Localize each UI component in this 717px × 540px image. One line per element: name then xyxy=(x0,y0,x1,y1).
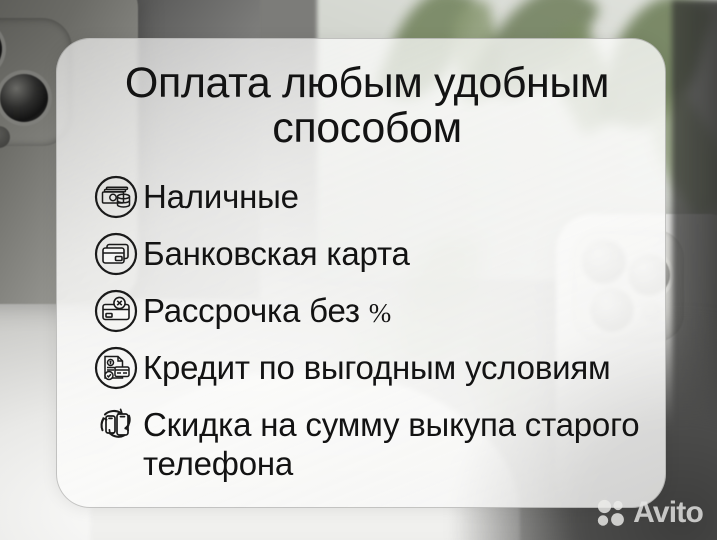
list-item: Наличные xyxy=(91,172,647,222)
camera-flash-icon xyxy=(0,126,10,148)
list-item-label: Банковская карта xyxy=(143,229,410,274)
list-item-label: Наличные xyxy=(143,172,299,217)
phone-trade-in-icon xyxy=(91,400,141,450)
avito-watermark: Avito xyxy=(596,498,703,528)
bank-card-icon xyxy=(91,229,141,279)
title-line-1: Оплата любым удобным xyxy=(125,59,609,107)
cash-banknotes-icon xyxy=(91,172,141,222)
avito-logo-icon xyxy=(596,498,626,528)
avito-wordmark: Avito xyxy=(633,498,703,528)
list-item-label: Рассрочка без % xyxy=(143,286,391,331)
installment-card-icon xyxy=(91,286,141,336)
list-item: Кредит по выгодным условиям xyxy=(91,343,647,393)
list-item: Рассрочка без % xyxy=(91,286,647,336)
credit-document-icon xyxy=(91,343,141,393)
list-item: Банковская карта xyxy=(91,229,647,279)
list-item-label: Скидка на сумму выкупа старого телефона xyxy=(143,400,647,483)
payment-methods-list: Наличные Б xyxy=(87,172,647,483)
list-item-label: Кредит по выгодным условиям xyxy=(143,343,611,388)
camera-lens-icon xyxy=(0,24,2,74)
percent-symbol: % xyxy=(369,298,391,328)
list-item-label-text: Рассрочка без xyxy=(143,292,369,329)
page-title: Оплата любым удобным способом xyxy=(87,61,647,150)
camera-lens-icon xyxy=(0,74,48,122)
title-line-2: способом xyxy=(272,104,462,152)
advertisement-image: Оплата любым удобным способом xyxy=(0,0,717,540)
list-item: Скидка на сумму выкупа старого телефона xyxy=(91,400,647,483)
info-card: Оплата любым удобным способом xyxy=(56,38,666,508)
